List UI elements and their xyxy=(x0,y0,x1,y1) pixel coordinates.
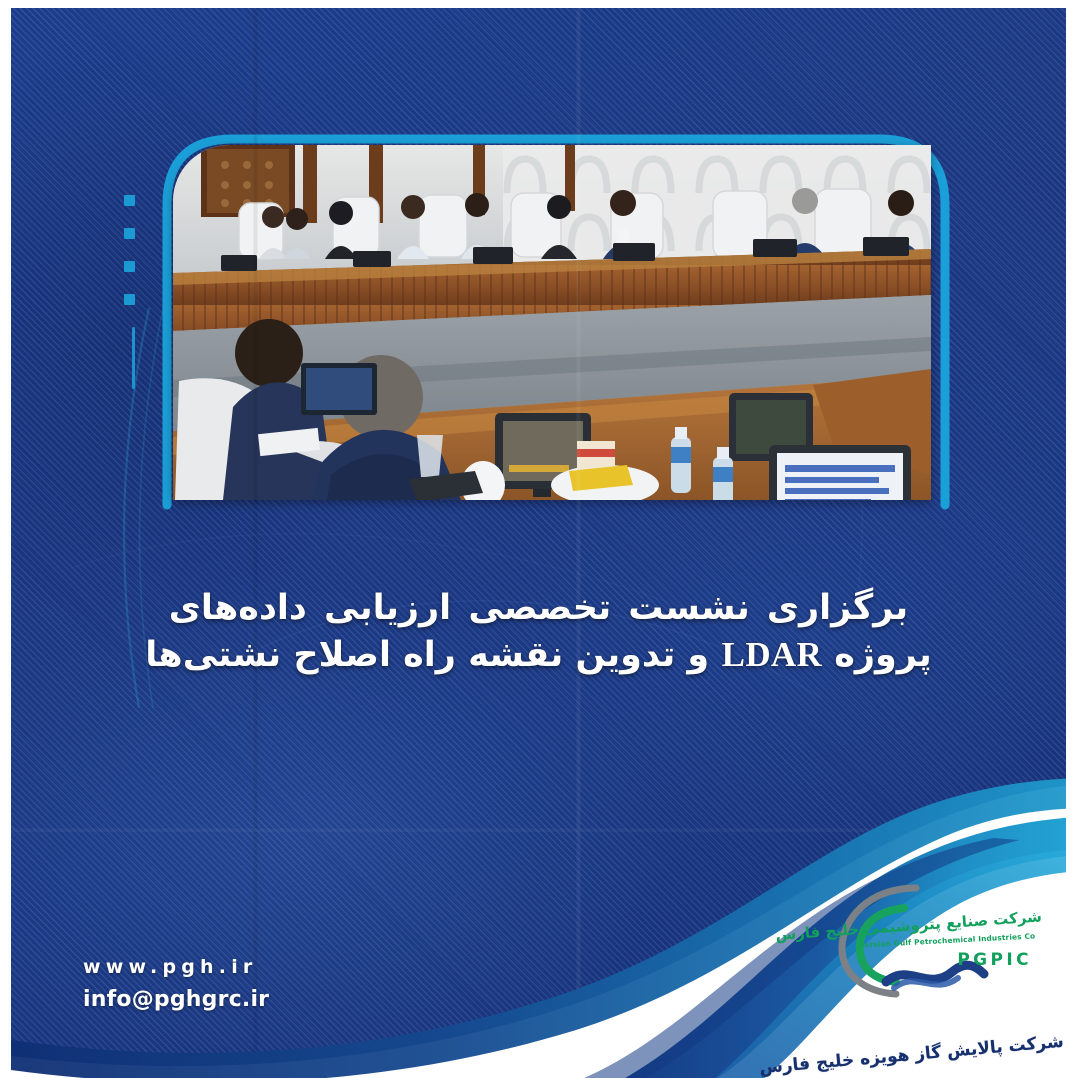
contact-block: www.pgh.ir info@pghgrc.ir xyxy=(83,956,269,1012)
photo-frame xyxy=(161,133,951,511)
headline-line-2-suffix: و تدوین نقشه راه اصلاح نشتی‌ها xyxy=(145,635,721,675)
meeting-photo xyxy=(173,145,931,500)
headline-line-1: برگزاری نشست تخصصی ارزیابی داده‌های xyxy=(101,586,976,632)
website-link[interactable]: www.pgh.ir xyxy=(83,956,269,978)
logo-block: شرکت صنایع پتروشیمی خلیج فارس Persian Gu… xyxy=(824,874,1064,1064)
headline: برگزاری نشست تخصصی ارزیابی داده‌های پروژ… xyxy=(11,586,1066,678)
poster-canvas: برگزاری نشست تخصصی ارزیابی داده‌های پروژ… xyxy=(0,0,1080,1078)
logo-acronym: PGPIC xyxy=(957,950,1032,970)
headline-project-code: LDAR xyxy=(722,635,822,674)
dotted-rail-icon xyxy=(121,195,135,385)
headline-line-2-prefix: پروژه xyxy=(822,635,932,675)
email-link[interactable]: info@pghgrc.ir xyxy=(83,987,269,1012)
headline-line-2: پروژه LDAR و تدوین نقشه راه اصلاح نشتی‌ه… xyxy=(101,632,976,679)
